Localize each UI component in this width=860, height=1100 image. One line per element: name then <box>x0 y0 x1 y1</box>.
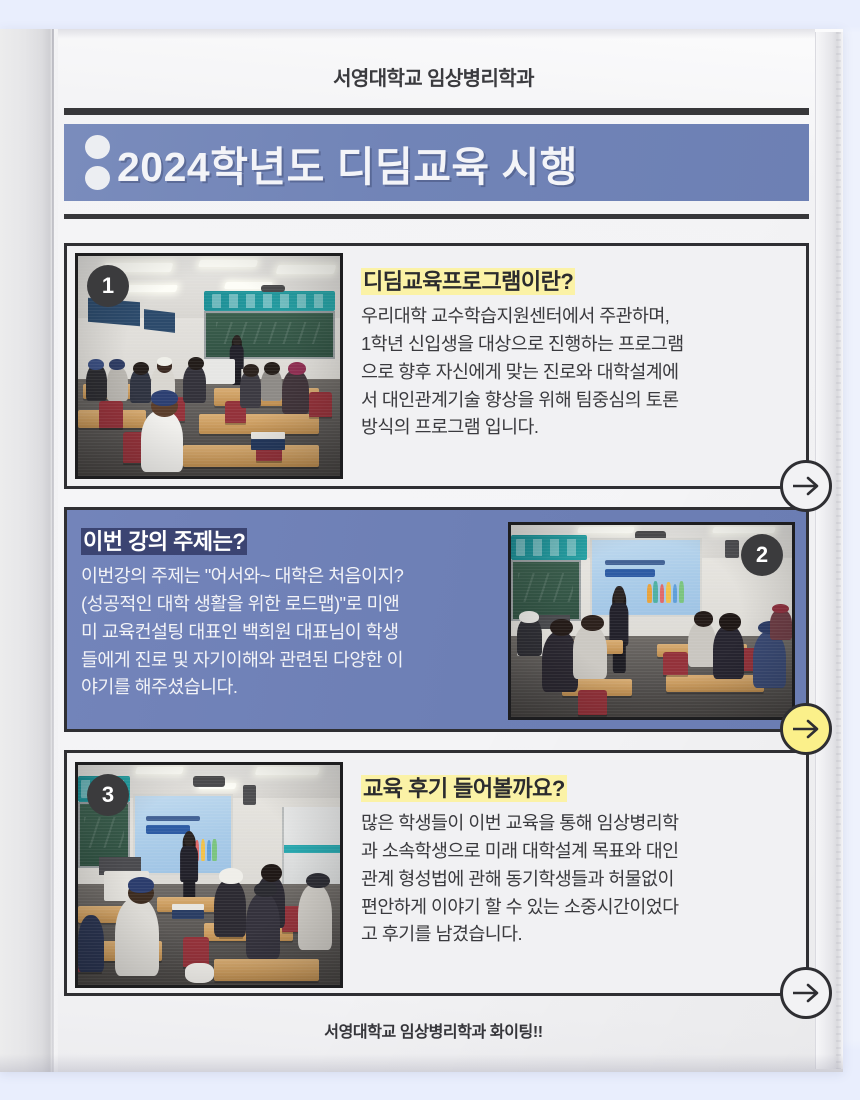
section-text-3: 교육 후기 들어볼까요? 많은 학생들이 이번 교육을 통해 임상병리학 과 소… <box>343 753 806 993</box>
section-number-badge-1: 1 <box>87 265 129 307</box>
paper-spine <box>0 29 58 1072</box>
section-number-badge-3: 3 <box>87 774 129 816</box>
section-photo-1: 1 <box>75 253 343 479</box>
next-arrow-1[interactable] <box>780 460 832 512</box>
footer-text: 서영대학교 임상병리학과 화이팅!! <box>58 1018 815 1042</box>
section-card-3[interactable]: 3 교육 후기 들어볼까요? 많은 학생들이 이번 교육을 통해 임상병리학 과… <box>64 750 809 996</box>
paper-sheet: 서영대학교 임상병리학과 2024학년도 디딤교육 시행 <box>0 29 843 1072</box>
section-body-1: 우리대학 교수학습지원센터에서 주관하며, 1학년 신입생을 대상으로 진행하는… <box>361 302 790 441</box>
paper-spine-line <box>52 29 54 1072</box>
section-heading-2: 이번 강의 주제는? <box>81 528 247 555</box>
section-photo-3: 3 <box>75 762 343 988</box>
paper-page-edge <box>815 32 843 1069</box>
section-body-3: 많은 학생들이 이번 교육을 통해 임상병리학 과 소속학생으로 미래 대학설계… <box>361 809 790 948</box>
under-title-rule <box>64 214 809 219</box>
department-title: 서영대학교 임상병리학과 <box>58 39 815 91</box>
next-arrow-3[interactable] <box>780 967 832 1019</box>
section-text-2: 이번 강의 주제는? 이번강의 주제는 "어서와~ 대학은 처음이지? (성공적… <box>67 510 508 729</box>
poster-content: 서영대학교 임상병리학과 2024학년도 디딤교육 시행 <box>58 39 815 1059</box>
section-number-badge-2: 2 <box>741 534 783 576</box>
section-card-2[interactable]: 이번 강의 주제는? 이번강의 주제는 "어서와~ 대학은 처음이지? (성공적… <box>64 507 809 732</box>
section-photo-2: 2 <box>508 522 795 720</box>
next-arrow-2[interactable] <box>780 703 832 755</box>
colon-dots-icon <box>77 135 117 190</box>
arrow-right-icon <box>791 476 821 496</box>
paper-top-fold <box>58 29 815 39</box>
section-body-2: 이번강의 주제는 "어서와~ 대학은 처음이지? (성공적인 대학 생활을 위한… <box>81 562 498 701</box>
title-bar: 2024학년도 디딤교육 시행 <box>64 124 809 201</box>
section-heading-1: 디딤교육프로그램이란? <box>361 268 575 295</box>
poster-title: 2024학년도 디딤교육 시행 <box>117 133 809 193</box>
arrow-right-icon <box>791 983 821 1003</box>
section-card-1[interactable]: 1 디딤교육프로그램이란? 우리대학 교수학습지원센터에서 주관하며, 1학년 … <box>64 243 809 489</box>
section-heading-3: 교육 후기 들어볼까요? <box>361 775 567 802</box>
section-text-1: 디딤교육프로그램이란? 우리대학 교수학습지원센터에서 주관하며, 1학년 신입… <box>343 246 806 486</box>
arrow-right-icon <box>791 719 821 739</box>
poster-stage: 서영대학교 임상병리학과 2024학년도 디딤교육 시행 <box>0 0 860 1100</box>
top-rule <box>64 108 809 115</box>
